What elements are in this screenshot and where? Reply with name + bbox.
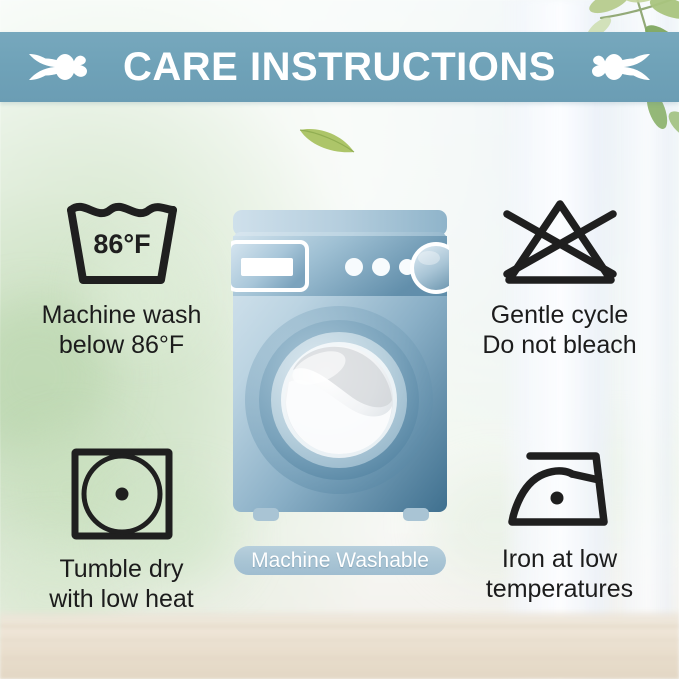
floating-leaf-icon bbox=[296, 122, 358, 156]
wash-tub-icon: 86°F bbox=[14, 196, 229, 293]
machine-control-buttons bbox=[345, 258, 415, 276]
machine-washable-badge: Machine Washable bbox=[234, 546, 446, 575]
header-banner: CARE INSTRUCTIONS bbox=[0, 32, 679, 102]
machine-washable-label: Machine Washable bbox=[251, 549, 429, 573]
machine-detergent-drawer bbox=[231, 242, 307, 290]
table-surface bbox=[0, 609, 679, 679]
care-symbol-machine-wash: 86°F Machine wash below 86°F bbox=[14, 196, 229, 360]
tumble-dry-icon bbox=[14, 446, 229, 547]
care-symbol-tumble-dry: Tumble dry with low heat bbox=[14, 446, 229, 614]
triangle-crossed-icon bbox=[452, 196, 667, 293]
care-symbol-iron: Iron at low temperatures bbox=[452, 446, 667, 604]
page-title: CARE INSTRUCTIONS bbox=[123, 45, 556, 90]
washing-machine-illustration bbox=[231, 210, 449, 535]
iron-icon bbox=[452, 446, 667, 537]
care-instructions-graphic: CARE INSTRUCTIONS 86°F Machi bbox=[0, 0, 679, 679]
care-symbol-no-bleach: Gentle cycle Do not bleach bbox=[452, 196, 667, 360]
care-caption-machine-wash: Machine wash below 86°F bbox=[14, 301, 229, 360]
fleur-de-lis-icon-left bbox=[29, 43, 103, 91]
care-caption-no-bleach: Gentle cycle Do not bleach bbox=[452, 301, 667, 360]
care-caption-iron: Iron at low temperatures bbox=[452, 545, 667, 604]
fleur-de-lis-icon-right bbox=[576, 43, 650, 91]
wash-temperature-label: 86°F bbox=[93, 229, 150, 259]
machine-door bbox=[245, 306, 433, 494]
care-caption-tumble-dry: Tumble dry with low heat bbox=[14, 555, 229, 614]
